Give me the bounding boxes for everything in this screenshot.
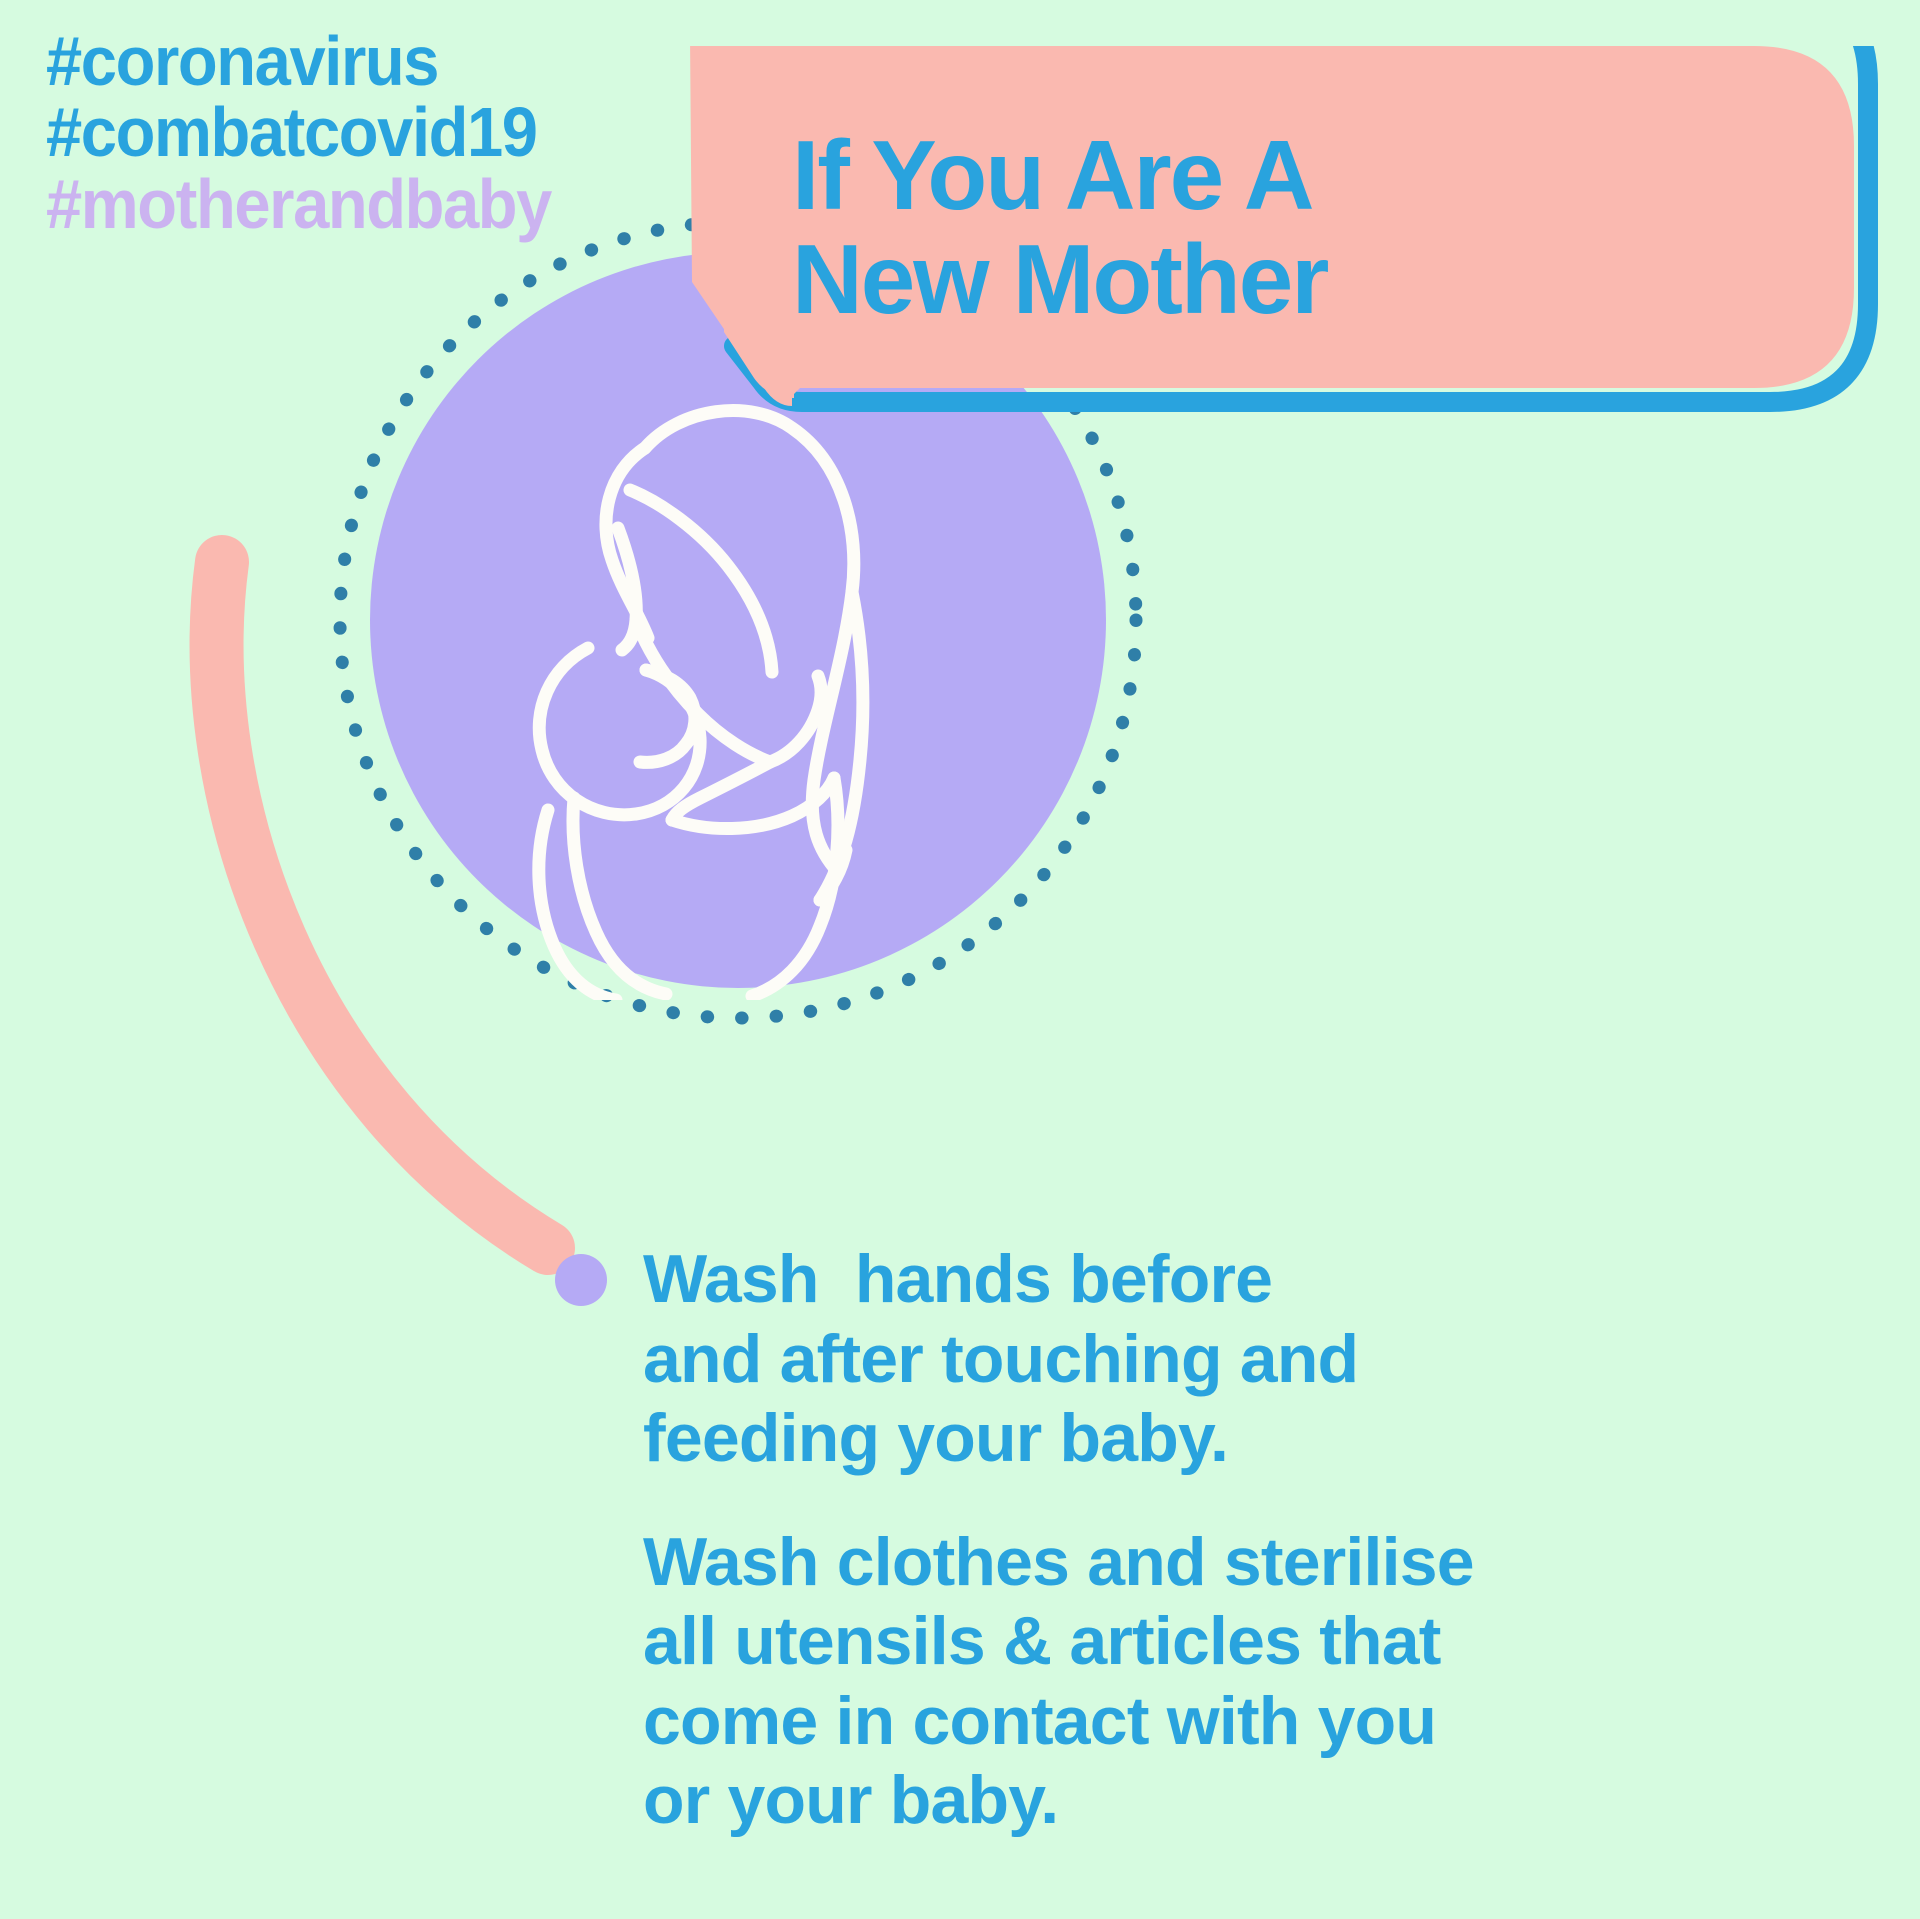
bullet-dot-icon (555, 1254, 607, 1306)
page-title: If You Are A New Mother (792, 124, 1852, 332)
hashtag-motherandbaby: #motherandbaby (46, 169, 551, 240)
tip-item-1: Wash hands before and after touching and… (643, 1240, 1763, 1479)
mother-and-baby-icon (470, 380, 970, 1000)
tip-2-line-1: Wash clothes and sterilise (643, 1523, 1763, 1603)
page-title-line-1: If You Are A (792, 124, 1852, 228)
tip-2-line-4: or your baby. (643, 1761, 1763, 1841)
poster-canvas: #coronavirus #combatcovid19 #motherandba… (0, 0, 1920, 1919)
tip-2-line-2: all utensils & articles that (643, 1602, 1763, 1682)
tip-item-2: Wash clothes and sterilise all utensils … (643, 1523, 1763, 1841)
hashtag-combatcovid19: #combatcovid19 (46, 97, 551, 168)
tips-list: Wash hands before and after touching and… (643, 1240, 1763, 1885)
page-title-line-2: New Mother (792, 228, 1852, 332)
tip-2-line-3: come in contact with you (643, 1682, 1763, 1762)
tip-1-line-2: and after touching and (643, 1320, 1763, 1400)
tip-1-line-1: Wash hands before (643, 1240, 1763, 1320)
tip-1-line-3: feeding your baby. (643, 1399, 1763, 1479)
headline-speech-bubble: If You Are A New Mother (672, 46, 1912, 466)
hashtag-coronavirus: #coronavirus (46, 26, 551, 97)
hashtag-group: #coronavirus #combatcovid19 #motherandba… (46, 26, 589, 240)
